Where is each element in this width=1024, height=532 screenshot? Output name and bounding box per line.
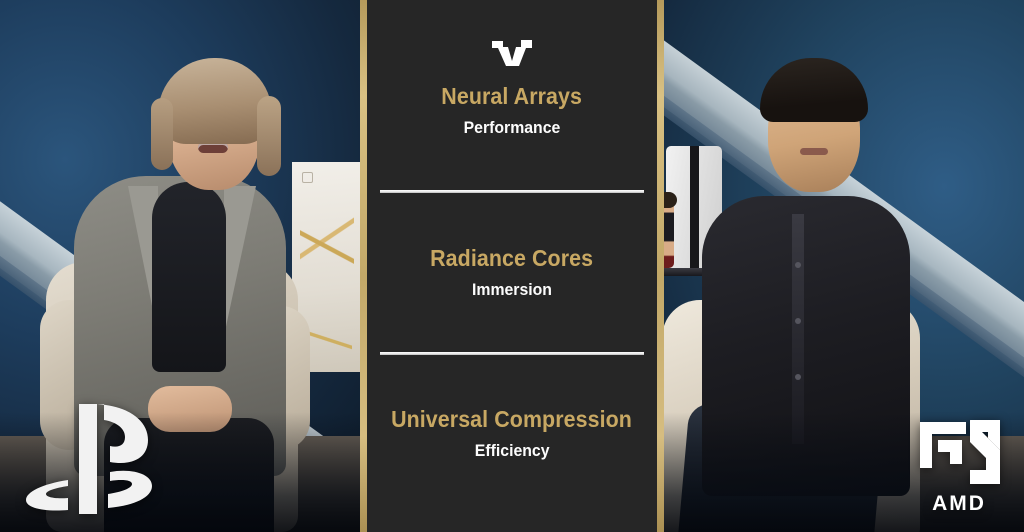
feature-subtitle: Performance [464, 118, 561, 138]
feature-card-panel: Neural Arrays Performance Radiance Cores… [360, 0, 664, 532]
feature-neural-arrays: Neural Arrays Performance [367, 84, 657, 138]
amd-arrow-icon [916, 418, 1002, 488]
feature-divider [380, 190, 644, 193]
shirt-button [795, 374, 801, 380]
speaker-shirt [152, 182, 226, 372]
playstation-ps-logo [24, 400, 154, 518]
presentation-slide: Neural Arrays Performance Radiance Cores… [0, 0, 1024, 532]
shirt-button [795, 262, 801, 268]
shirt-placket [792, 214, 804, 444]
speaker-mouth [800, 148, 828, 155]
blazer-lapel-right [224, 186, 256, 336]
feature-title: Universal Compression [392, 407, 633, 431]
amd-wordmark: AMD [916, 492, 1002, 516]
feature-card: Neural Arrays Performance Radiance Cores… [367, 0, 657, 532]
gold-rail-left [360, 0, 367, 532]
feature-divider [380, 352, 644, 355]
amd-logo: AMD [916, 418, 1002, 516]
feature-radiance-cores: Radiance Cores Immersion [367, 246, 657, 300]
feature-subtitle: Efficiency [475, 441, 550, 461]
panel-logo-mark [302, 172, 313, 183]
feature-title: Radiance Cores [431, 246, 594, 270]
ps-wing-mark-icon [490, 38, 534, 68]
speaker-hair [760, 58, 868, 122]
feature-universal-compression: Universal Compression Efficiency [367, 407, 657, 461]
shirt-button [795, 318, 801, 324]
feature-subtitle: Immersion [472, 280, 552, 300]
feature-title: Neural Arrays [442, 84, 583, 108]
gold-rail-right [657, 0, 664, 532]
panel-sketch-upper [300, 210, 354, 282]
